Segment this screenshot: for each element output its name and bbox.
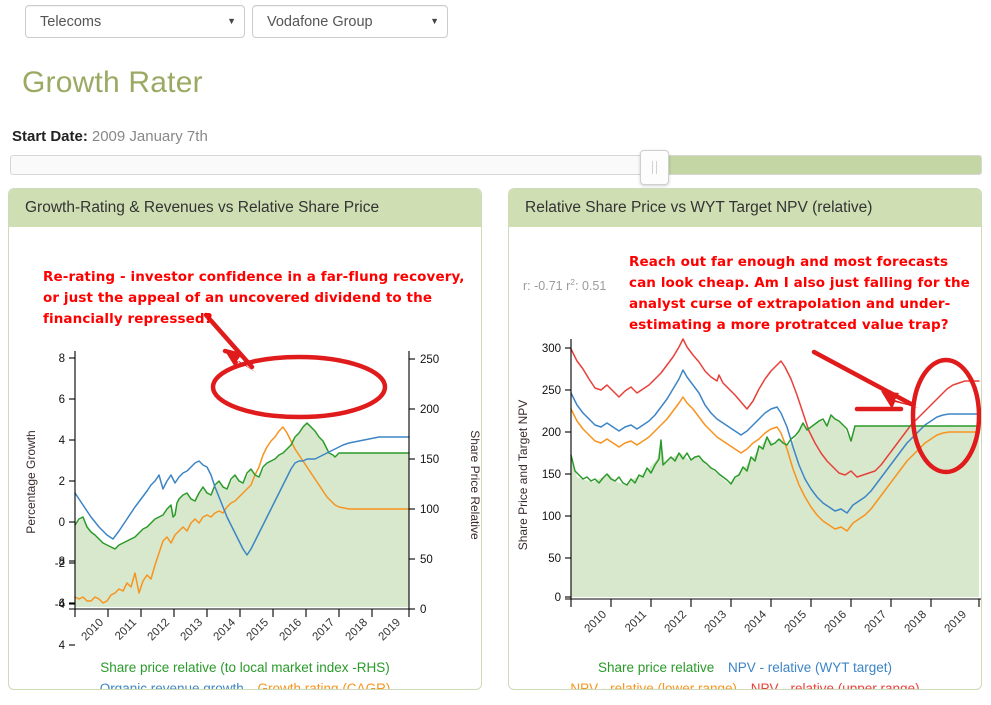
svg-text:4: 4 bbox=[59, 640, 66, 652]
svg-text:2016: 2016 bbox=[823, 609, 850, 636]
left-y2-axis-title: Share Price Relative bbox=[468, 430, 482, 540]
svg-text:0: 0 bbox=[59, 517, 65, 529]
svg-text:2014: 2014 bbox=[743, 608, 770, 635]
svg-text:2019: 2019 bbox=[943, 609, 970, 636]
svg-text:6: 6 bbox=[59, 394, 65, 406]
svg-text:-2: -2 bbox=[55, 558, 65, 570]
r2-colon: : bbox=[575, 279, 578, 293]
start-date-label: Start Date: bbox=[12, 128, 88, 145]
legend-item-organic-revenue-growth: Organic revenue growth bbox=[100, 681, 244, 690]
legend-item-share-price-relative: Share price relative (to local market in… bbox=[100, 660, 390, 675]
svg-text:8: 8 bbox=[59, 353, 65, 365]
legend-item-npv-upper-range: NPV - relative (upper range) bbox=[751, 681, 920, 690]
panel-right-body: 300 250 200 150 100 50 0 Share Price and… bbox=[509, 227, 981, 690]
svg-text:2011: 2011 bbox=[113, 617, 139, 643]
svg-text:300: 300 bbox=[542, 343, 561, 355]
left-annotation-ink bbox=[206, 315, 385, 417]
svg-text:2012: 2012 bbox=[146, 617, 173, 644]
svg-text:0: 0 bbox=[555, 592, 561, 604]
panel-left-header: Growth-Rating & Revenues vs Relative Sha… bbox=[9, 189, 481, 227]
svg-text:2011: 2011 bbox=[623, 609, 649, 635]
filter-bar: Telecoms ▼ Vodafone Group ▼ bbox=[0, 0, 991, 46]
svg-text:2019: 2019 bbox=[377, 617, 404, 644]
svg-text:2018: 2018 bbox=[903, 609, 930, 636]
svg-text:250: 250 bbox=[542, 385, 561, 397]
right-x-tick-labels: 2010 2011 2012 2013 2014 2015 2016 2017 … bbox=[583, 608, 970, 635]
legend-item-npv-wyt-target: NPV - relative (WYT target) bbox=[728, 660, 892, 675]
svg-text:4: 4 bbox=[59, 435, 66, 447]
svg-text:0: 0 bbox=[420, 604, 426, 616]
svg-text:100: 100 bbox=[542, 511, 561, 523]
left-chart-annotation: Re-rating - investor confidence in a far… bbox=[43, 267, 473, 330]
svg-text:2013: 2013 bbox=[703, 609, 730, 636]
start-date-row: Start Date:2009 January 7th bbox=[12, 128, 208, 145]
company-select[interactable]: Vodafone Group ▼ bbox=[252, 5, 448, 38]
svg-text:-4: -4 bbox=[55, 599, 66, 611]
growth-rater-page: Telecoms ▼ Vodafone Group ▼ Growth Rater… bbox=[0, 0, 991, 705]
panel-left-body: 8 6 4 8 6 4 2 0 -2 -4 Percentage Growth bbox=[9, 227, 481, 690]
left-x-ticks bbox=[75, 609, 409, 617]
svg-text:200: 200 bbox=[542, 427, 561, 439]
svg-text:100: 100 bbox=[420, 504, 439, 516]
legend-item-share-price-relative: Share price relative bbox=[598, 660, 714, 675]
chevron-down-icon: ▼ bbox=[227, 17, 236, 26]
handle-grip-line bbox=[656, 161, 657, 174]
sector-select-value: Telecoms bbox=[40, 14, 217, 30]
panel-relative-share-price: Relative Share Price vs WYT Target NPV (… bbox=[508, 188, 982, 690]
svg-text:2010: 2010 bbox=[583, 609, 610, 636]
left-area-fill bbox=[75, 423, 409, 607]
left-x-tick-labels: 2010 2011 2012 2013 2014 2015 2016 2017 … bbox=[80, 616, 404, 643]
svg-text:2012: 2012 bbox=[663, 609, 690, 636]
legend-item-growth-rating: Growth rating (CAGR) bbox=[258, 681, 391, 690]
left-chart-legend: Share price relative (to local market in… bbox=[9, 657, 481, 690]
left-y-tick-labels: 8 6 4 2 0 -2 -4 bbox=[55, 353, 75, 611]
slider-handle[interactable] bbox=[640, 150, 669, 185]
correlation-stats: r: -0.71 r2: 0.51 bbox=[523, 277, 606, 293]
slider-filled-track bbox=[647, 156, 981, 174]
svg-text:150: 150 bbox=[420, 454, 439, 466]
panel-right-header: Relative Share Price vs WYT Target NPV (… bbox=[509, 189, 981, 227]
legend-item-npv-lower-range: NPV - relative (lower range) bbox=[570, 681, 737, 690]
company-select-value: Vodafone Group bbox=[267, 14, 420, 30]
r2-value: 0.51 bbox=[582, 279, 606, 293]
handle-grip-line bbox=[652, 161, 653, 174]
svg-text:2017: 2017 bbox=[863, 609, 890, 636]
r-value: -0.71 bbox=[534, 279, 563, 293]
right-y-axis-title: Share Price and Target NPV bbox=[516, 400, 530, 551]
panel-growth-rating: Growth-Rating & Revenues vs Relative Sha… bbox=[8, 188, 482, 690]
svg-text:2: 2 bbox=[59, 476, 65, 488]
right-chart-annotation: Reach out far enough and most forecasts … bbox=[629, 252, 979, 336]
svg-text:250: 250 bbox=[420, 354, 439, 366]
sector-select[interactable]: Telecoms ▼ bbox=[25, 5, 245, 38]
svg-text:200: 200 bbox=[420, 404, 439, 416]
svg-text:50: 50 bbox=[548, 553, 561, 565]
svg-text:2018: 2018 bbox=[344, 617, 371, 644]
svg-text:150: 150 bbox=[542, 469, 561, 481]
svg-text:2010: 2010 bbox=[80, 617, 107, 644]
right-chart-legend: Share price relative NPV - relative (WYT… bbox=[509, 657, 981, 690]
left-y2-ticks: 250 200 150 100 50 0 bbox=[409, 354, 439, 616]
svg-text:2017: 2017 bbox=[311, 617, 338, 644]
svg-text:2013: 2013 bbox=[179, 617, 206, 644]
svg-text:2014: 2014 bbox=[212, 616, 239, 643]
start-date-slider[interactable] bbox=[10, 155, 982, 175]
svg-text:50: 50 bbox=[420, 554, 433, 566]
svg-text:2016: 2016 bbox=[278, 617, 305, 644]
page-title: Growth Rater bbox=[22, 66, 203, 100]
chevron-down-icon: ▼ bbox=[430, 17, 439, 26]
right-y-ticks: 300 250 200 150 100 50 0 bbox=[542, 343, 571, 604]
svg-text:2015: 2015 bbox=[783, 609, 810, 636]
right-x-ticks bbox=[571, 599, 979, 607]
svg-text:2015: 2015 bbox=[245, 617, 272, 644]
start-date-value: 2009 January 7th bbox=[92, 128, 208, 145]
r-label: r: bbox=[523, 279, 531, 293]
left-y-axis-title: Percentage Growth bbox=[24, 430, 38, 533]
